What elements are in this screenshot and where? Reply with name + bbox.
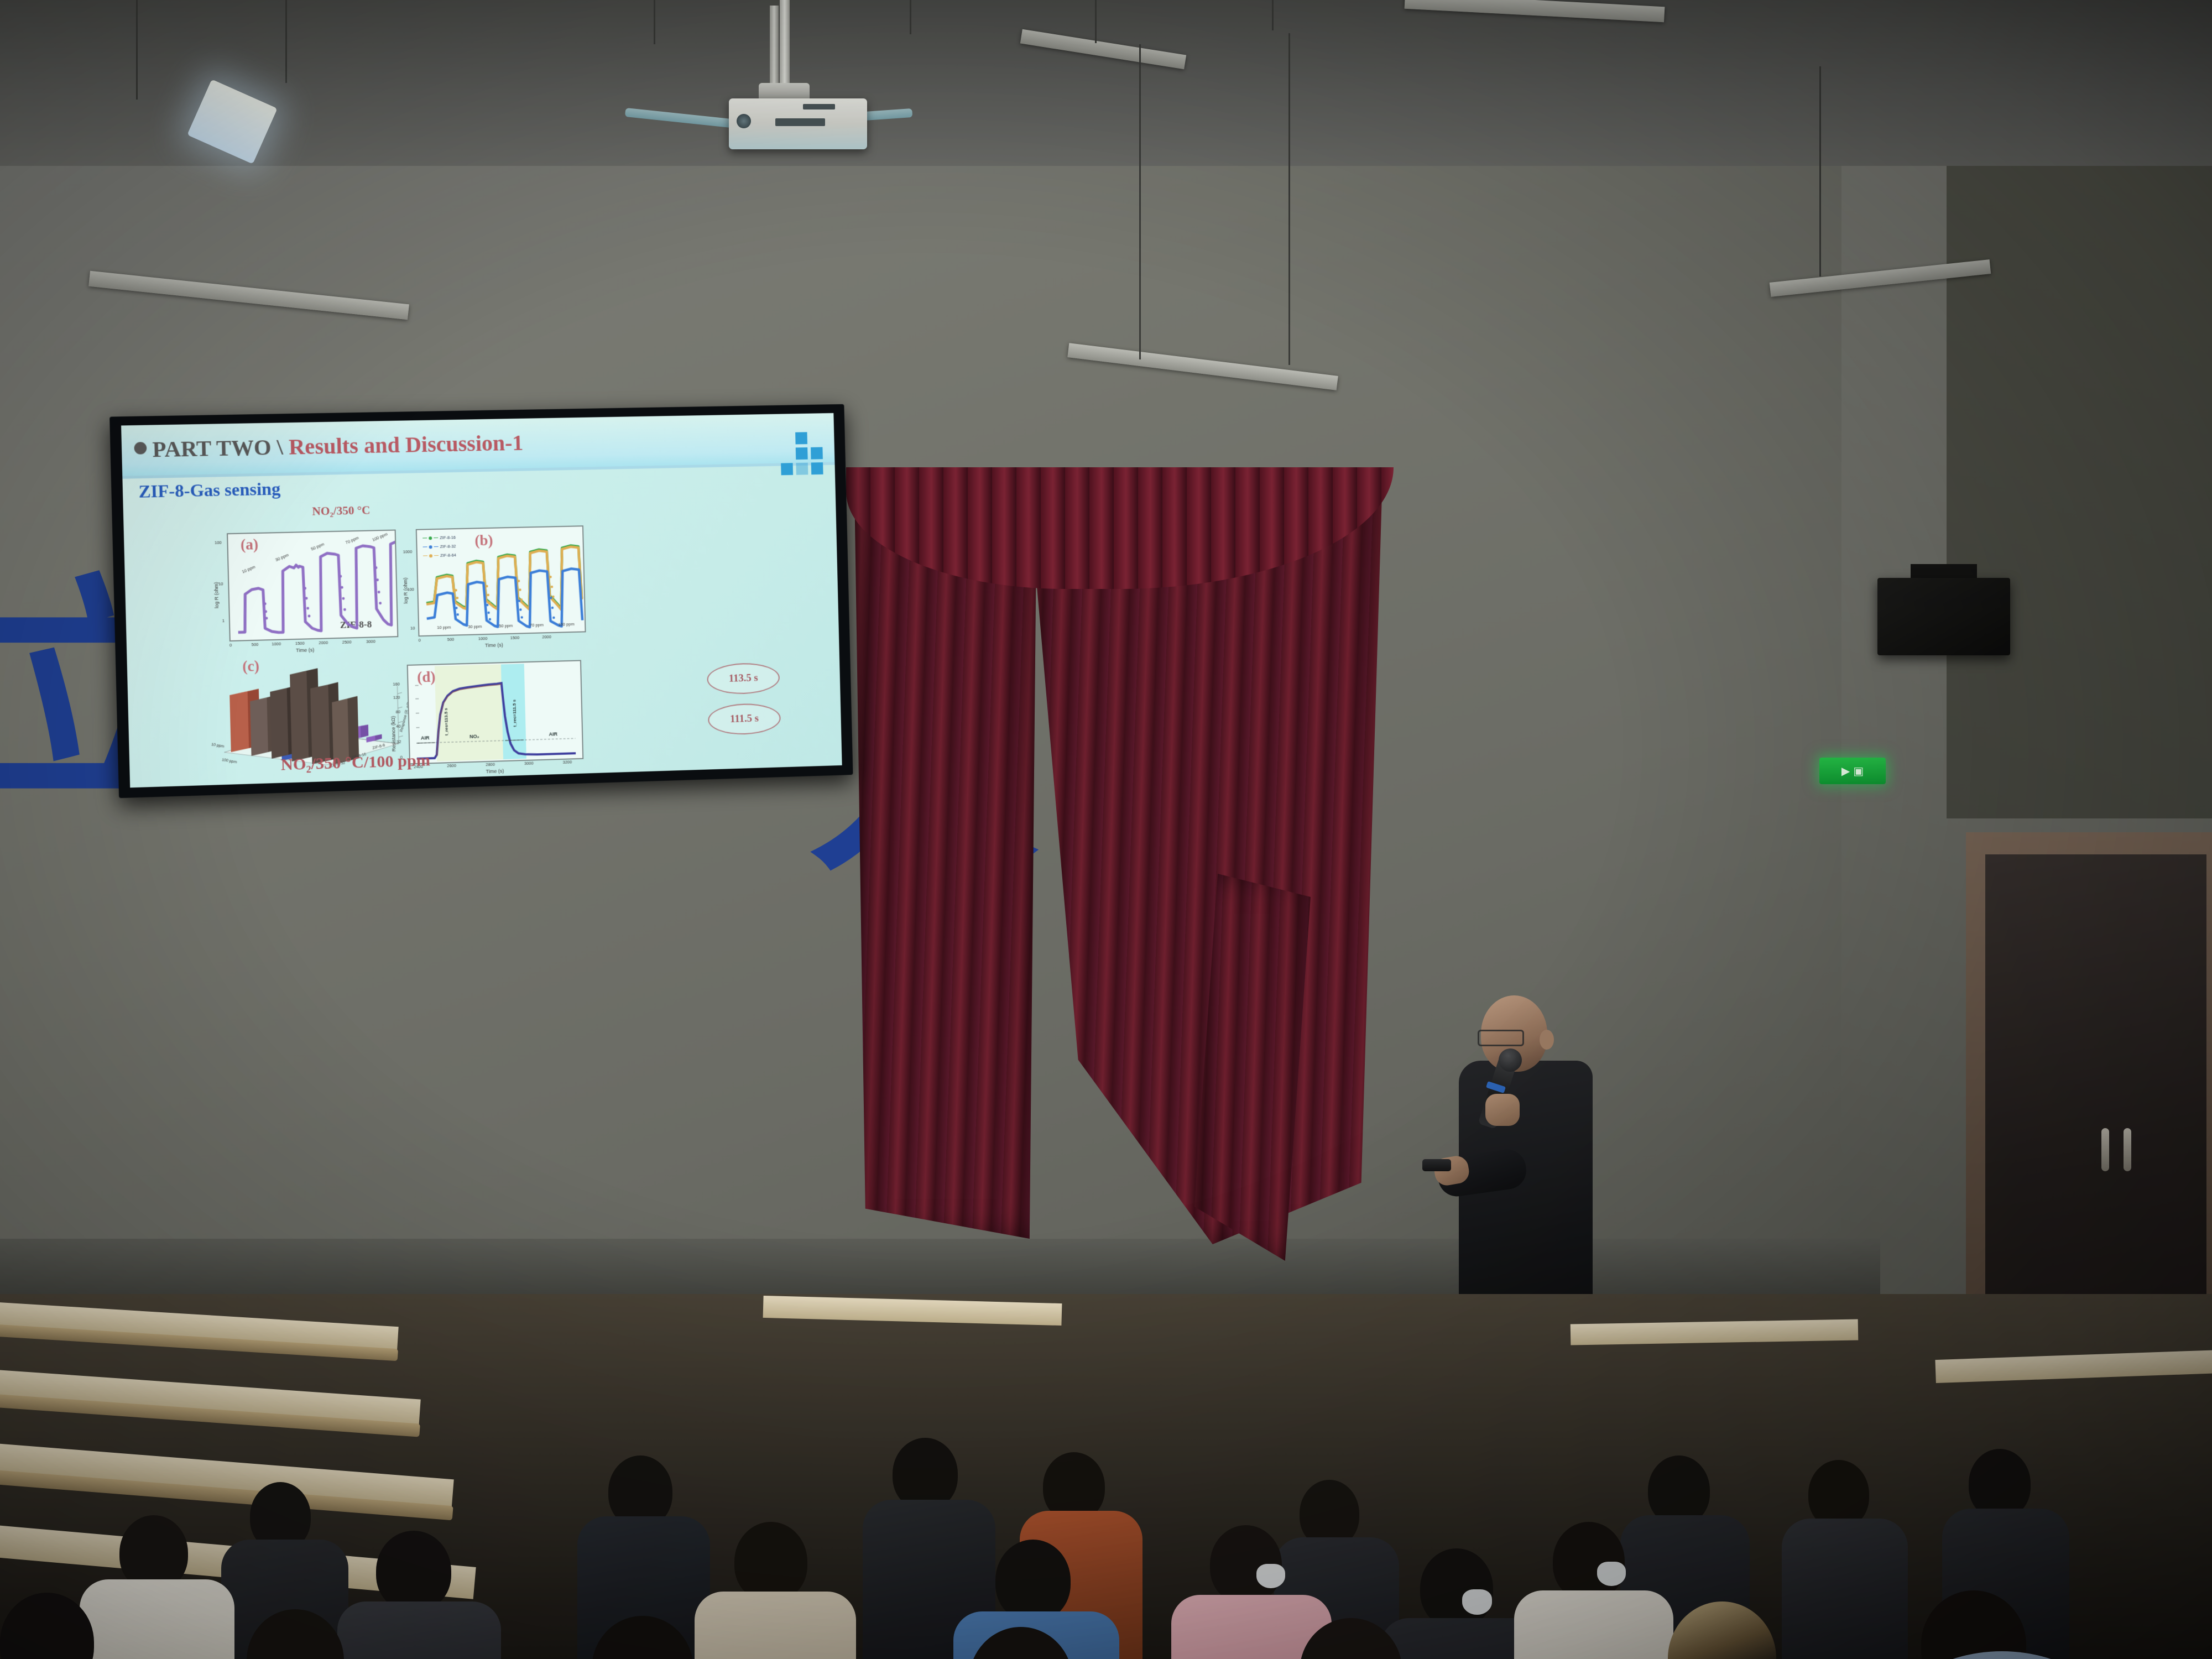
panel-a-xtick: 3000 xyxy=(366,639,375,644)
panel-b-conc-label: 10 ppm xyxy=(437,625,451,630)
panel-d-xtick: 2600 xyxy=(447,763,456,769)
running-man-icon: ▶ xyxy=(1841,764,1850,778)
panel-d-xtick: 3000 xyxy=(524,760,534,765)
head xyxy=(734,1522,807,1601)
head xyxy=(376,1531,451,1611)
callout-response-time: 113.5 s xyxy=(707,662,780,695)
panel-b-xtick: 500 xyxy=(447,637,455,642)
panel-b-plot xyxy=(417,526,585,635)
response-time-annotation: t_res=113.5 s xyxy=(444,708,449,735)
torso xyxy=(337,1601,501,1659)
panel-b-xtick: 2000 xyxy=(542,634,551,639)
panel-d-ytick: 32 xyxy=(397,739,401,744)
chart-panel-b: (b) ZIF-8-16 ZIF-8-32 ZIF xyxy=(416,525,586,637)
presenter-ear xyxy=(1540,1030,1554,1050)
torso xyxy=(80,1579,234,1659)
panel-b-ylabel: log R (ohm) xyxy=(403,577,409,603)
stage-curtain-left xyxy=(854,487,1037,1239)
projector-pole xyxy=(780,0,790,88)
panel-b-conc-label: 50 ppm xyxy=(499,623,513,629)
light-wire xyxy=(910,0,911,34)
projector-vent xyxy=(775,118,825,126)
panel-d-ytick: 120 xyxy=(393,695,400,700)
panel-d-ytick: 80 xyxy=(396,709,401,714)
panel-d-ylabel: Resistance (kΩ) xyxy=(390,716,397,752)
region-label-air: AIR xyxy=(421,735,430,740)
panel-d-xtick: 2800 xyxy=(486,762,495,768)
ceiling xyxy=(0,0,2212,166)
decor-square xyxy=(796,463,808,475)
region-label-no2: NO₂ xyxy=(469,733,479,739)
light-wire xyxy=(654,0,655,44)
decor-square xyxy=(796,447,808,460)
chart-panel-a: (a) ZIF-8-8 10 ppm 30 ppm 50 ppm 70 ppm … xyxy=(227,530,398,642)
light-wire xyxy=(1095,0,1097,43)
light-wire xyxy=(1288,33,1290,365)
exit-door-icon: ▣ xyxy=(1853,764,1864,778)
panel-b-ytick: 1000 xyxy=(403,549,413,554)
head xyxy=(893,1438,958,1510)
projected-slide: PART TWO \ Results and Discussion-1 ZIF-… xyxy=(121,413,842,787)
audience xyxy=(0,1206,2212,1659)
lecture-hall-photo: ▶ ▣ 立 人 PART TWO \ Results and Discussio… xyxy=(0,0,2212,1659)
panel-b-xtick: 1500 xyxy=(510,635,520,640)
panel-b-conc-label: 30 ppm xyxy=(468,624,482,629)
panel-d-ytick: 40 xyxy=(396,724,401,729)
panel-a-xtick: 2500 xyxy=(342,639,352,644)
light-wire xyxy=(1819,66,1821,276)
panel-b-xtick: 0 xyxy=(419,638,421,643)
torso xyxy=(695,1592,856,1659)
glasses-icon xyxy=(1478,1030,1524,1046)
panel-a-xlabel: Time (s) xyxy=(296,647,314,653)
light-wire xyxy=(1139,44,1141,359)
panel-a-xtick: 0 xyxy=(229,643,232,648)
projector-vent xyxy=(803,104,835,109)
panel-a-xtick: 1000 xyxy=(272,641,281,647)
decor-square xyxy=(811,462,823,474)
exit-sign: ▶ ▣ xyxy=(1819,758,1886,784)
region-label-air-2: AIR xyxy=(549,731,557,737)
recovery-time-annotation: t_rec=111.5 s xyxy=(512,700,517,727)
panel-b-conc-label: 70 ppm xyxy=(530,622,544,628)
panel-a-ylabel: log R (ohm) xyxy=(213,582,220,608)
door-handle[interactable] xyxy=(2101,1128,2109,1171)
condition-label-top: NO₂/350 °C xyxy=(312,503,371,518)
title-part-two: Results and Discussion-1 xyxy=(288,430,523,460)
panel-d-ytick: 160 xyxy=(393,681,400,686)
presenter-hand-holding-mic xyxy=(1485,1094,1520,1126)
hood xyxy=(1886,1651,2118,1659)
panel-d-xlabel: Time (s) xyxy=(486,768,504,774)
wall-speaker xyxy=(1877,578,2010,655)
slide-subtitle: ZIF-8-Gas sensing xyxy=(138,478,280,502)
head xyxy=(995,1540,1071,1621)
panel-a-xtick: 500 xyxy=(252,642,259,647)
presentation-clicker[interactable] xyxy=(1422,1159,1451,1171)
decor-square xyxy=(781,463,793,475)
light-wire xyxy=(136,0,138,100)
panel-a-ytick: 1 xyxy=(222,618,225,623)
door-handle[interactable] xyxy=(2124,1128,2131,1171)
face-mask xyxy=(1597,1562,1626,1586)
title-part-one: PART TWO \ xyxy=(152,434,289,462)
panel-b-xlabel: Time (s) xyxy=(485,642,503,648)
panel-b-ytick: 10 xyxy=(410,625,415,630)
panel-b-conc-label: 100 ppm xyxy=(559,622,575,627)
face-mask xyxy=(1256,1564,1285,1588)
panel-a-xtick: 1500 xyxy=(295,641,305,646)
torso xyxy=(1514,1590,1673,1659)
light-wire xyxy=(1272,0,1274,30)
torso xyxy=(1782,1519,1908,1659)
panel-d-plot xyxy=(408,661,583,763)
panel-a-xtick: 2000 xyxy=(319,640,328,645)
panel-a-ytick: 10 xyxy=(218,581,223,586)
panel-a-ytick: 100 xyxy=(215,540,222,545)
panel-b-xtick: 1000 xyxy=(478,636,488,641)
decor-square xyxy=(795,432,807,444)
head xyxy=(1420,1548,1493,1628)
panel-d-xtick: 3200 xyxy=(563,759,572,764)
chart-panel-d: (d) xyxy=(407,660,584,764)
callout-recovery-time: 111.5 s xyxy=(708,703,781,735)
projection-screen-frame: PART TWO \ Results and Discussion-1 ZIF-… xyxy=(109,404,853,798)
projector-lens-icon xyxy=(737,114,751,128)
head xyxy=(1553,1522,1625,1600)
light-wire xyxy=(285,0,287,83)
face-mask xyxy=(1462,1589,1492,1615)
slide-bottom-caption: NO₂/350 °C/100 ppm xyxy=(280,751,430,774)
decor-square xyxy=(811,447,823,459)
